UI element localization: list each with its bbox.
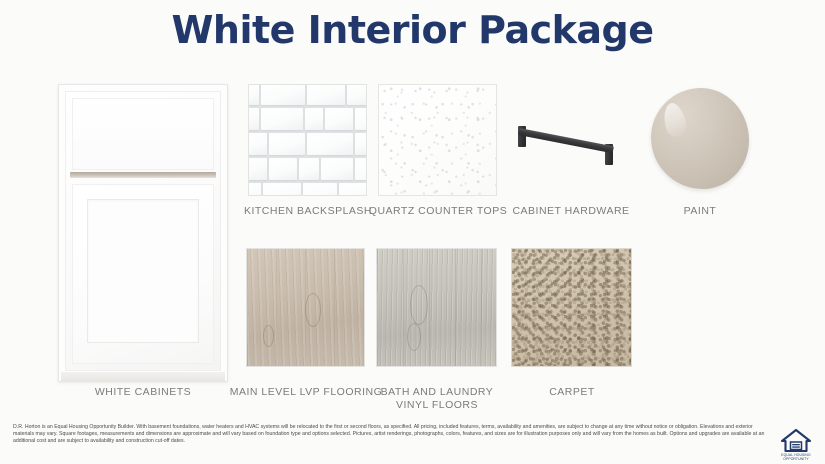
tile-row — [249, 181, 366, 196]
swatch-main-level-lvp-flooring — [246, 248, 365, 367]
paint-highlight — [659, 101, 689, 140]
label-carpet: CARPET — [492, 386, 652, 399]
tile-brick — [355, 133, 367, 155]
lvp-grain-knot — [305, 293, 321, 327]
tile-brick — [321, 158, 353, 180]
tile-brick — [248, 133, 267, 155]
tile-brick — [307, 133, 353, 155]
tile-brick — [355, 108, 367, 130]
cabinet-face — [65, 91, 221, 371]
label-white-cabinets: WHITE CABINETS — [58, 386, 228, 399]
house-icon — [779, 427, 813, 454]
tile-brick — [248, 158, 267, 180]
swatch-bath-and-laundry-vinyl-floors — [376, 248, 497, 367]
swatch-carpet — [511, 248, 632, 367]
interior-package-board: White Interior Package KITCHEN BACKSPLAS… — [0, 0, 825, 464]
tile-brick — [269, 133, 305, 155]
cabinet-drawer-front — [72, 98, 214, 170]
tile-row — [249, 156, 366, 181]
tile-brick — [307, 84, 345, 105]
tile-brick — [347, 84, 367, 105]
tile-brick — [263, 183, 301, 197]
swatch-cabinet-hardware — [505, 100, 630, 180]
tile-brick — [303, 183, 337, 197]
legal-disclaimer: D.R. Horton is an Equal Housing Opportun… — [13, 424, 768, 446]
tile-brick — [261, 84, 305, 105]
swatch-white-cabinets — [58, 84, 228, 382]
lvp-grain-knot — [263, 325, 274, 347]
equal-housing-opportunity-logo: EQUAL HOUSING OPPORTUNITY — [779, 427, 813, 460]
tile-brick — [355, 158, 367, 180]
tile-brick — [248, 84, 259, 105]
swatch-quartz-counter-tops — [378, 84, 497, 196]
swatch-paint — [651, 88, 749, 189]
tile-brick — [339, 183, 367, 197]
tile-brick — [248, 183, 261, 197]
page-title: White Interior Package — [0, 8, 825, 52]
cabinet-door-front — [72, 184, 214, 364]
eho-logo-caption: EQUAL HOUSING OPPORTUNITY — [779, 453, 813, 461]
vinyl-grain-knot — [410, 285, 428, 325]
tile-brick — [248, 108, 259, 130]
swatch-kitchen-backsplash — [248, 84, 367, 196]
tile-row — [249, 131, 366, 156]
vinyl-grain-knot — [407, 323, 421, 351]
tile-brick — [269, 158, 297, 180]
cabinet-shaker-panel — [87, 199, 199, 343]
tile-brick — [325, 108, 353, 130]
tile-brick — [261, 108, 303, 130]
cabinet-base-shadow — [61, 372, 225, 381]
tile-brick — [305, 108, 323, 130]
tile-brick — [299, 158, 319, 180]
tile-row — [249, 106, 366, 131]
tile-row — [249, 84, 366, 106]
cabinet-drawer-reveal — [70, 172, 216, 178]
pull-bar — [518, 128, 614, 153]
label-paint: PAINT — [620, 205, 780, 218]
